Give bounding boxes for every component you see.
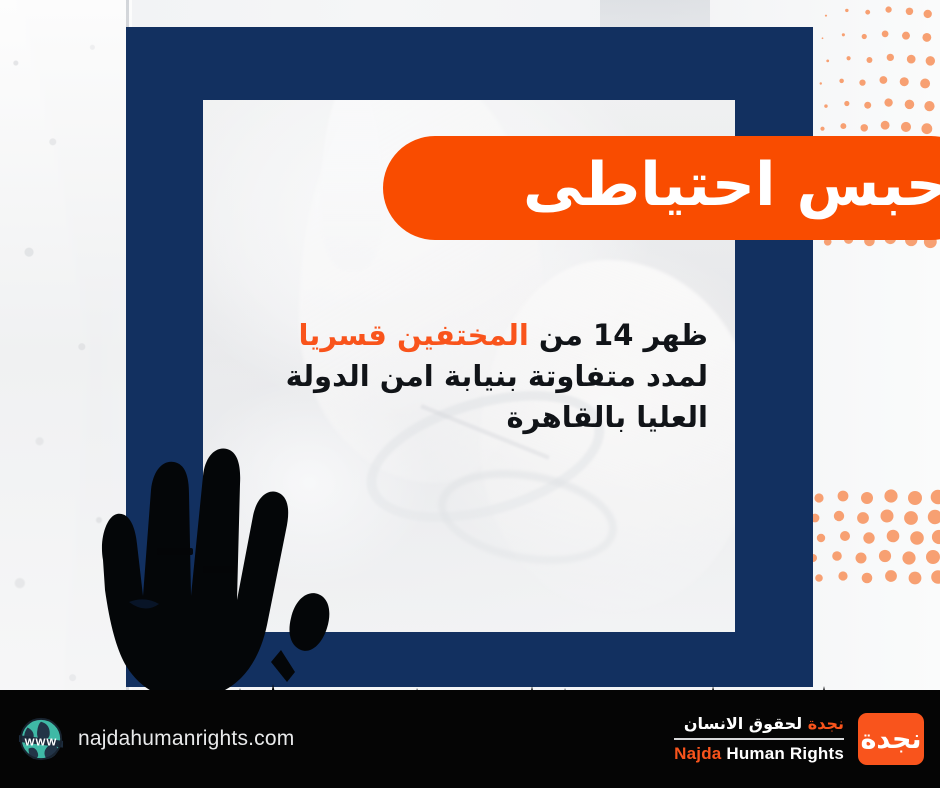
body-line-1-lead: ظهر 14 من — [529, 318, 708, 352]
brand-logo-group[interactable]: نجدة لحقوق الانسان Najda Human Rights نج… — [674, 713, 924, 765]
brand-text-lines: نجدة لحقوق الانسان Najda Human Rights — [674, 714, 844, 764]
brand-divider — [674, 738, 844, 740]
background-texture-strip — [0, 0, 132, 788]
brand-badge[interactable]: نجدة — [858, 713, 924, 765]
body-line-1-highlight: المختفين قسريا — [299, 318, 529, 352]
footer-website-group[interactable]: WWW najdahumanrights.com — [18, 716, 294, 762]
body-text-block: ظهر 14 من المختفين قسريا لمدد متفاوتة بن… — [226, 315, 708, 439]
brand-english-tagline: Human Rights — [721, 744, 844, 763]
brand-english-name: Najda — [674, 744, 721, 763]
svg-text:WWW: WWW — [25, 737, 58, 749]
brand-arabic-line: نجدة لحقوق الانسان — [674, 714, 844, 734]
brand-english-line: Najda Human Rights — [674, 744, 844, 764]
brand-arabic-name: نجدة — [808, 714, 844, 733]
body-line-3: العليا بالقاهرة — [226, 397, 708, 438]
website-url-text[interactable]: najdahumanrights.com — [78, 727, 294, 751]
globe-www-icon: WWW — [18, 716, 64, 762]
brand-arabic-tagline: لحقوق الانسان — [684, 714, 808, 733]
footer-bar: WWW najdahumanrights.com نجدة لحقوق الان… — [0, 690, 940, 788]
brand-badge-text: نجدة — [860, 724, 921, 755]
poster-root: حبس احتياطى ظهر 14 من المختفين قسريا لمد… — [0, 0, 940, 788]
body-line-1: ظهر 14 من المختفين قسريا — [226, 315, 708, 356]
body-line-2: لمدد متفاوتة بنيابة امن الدولة — [226, 356, 708, 397]
headline-capsule: حبس احتياطى — [383, 136, 940, 240]
headline-text: حبس احتياطى — [523, 155, 940, 215]
